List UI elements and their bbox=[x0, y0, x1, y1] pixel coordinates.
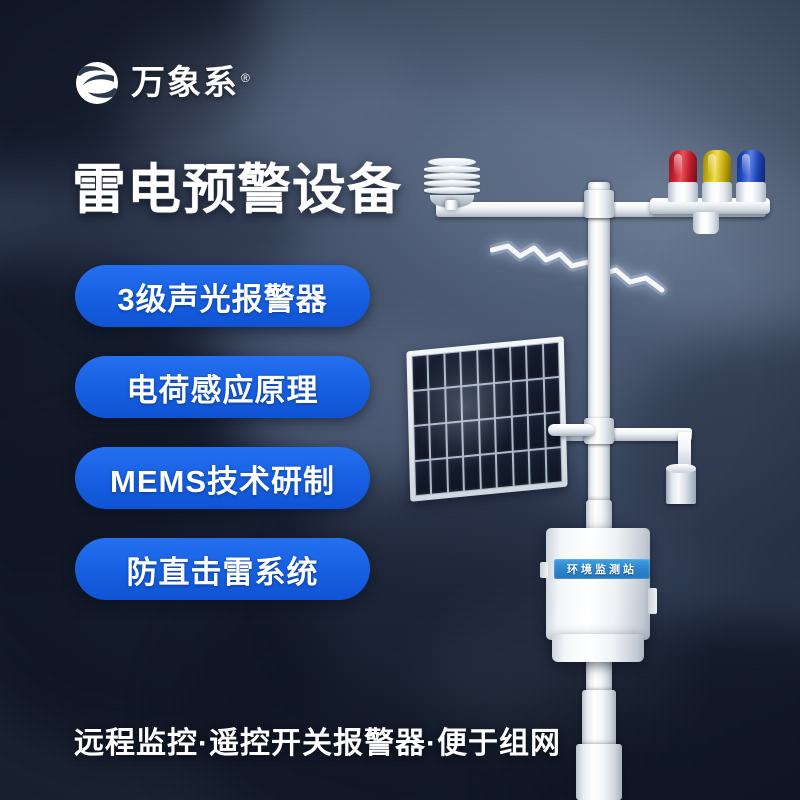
page-title: 雷电预警设备 bbox=[72, 163, 402, 217]
feature-pill-3-label: MEMS技术研制 bbox=[110, 456, 335, 501]
control-box-right-ear bbox=[648, 588, 657, 614]
brand-logo: 万象系® bbox=[74, 60, 252, 106]
control-box bbox=[546, 528, 650, 640]
trademark-symbol: ® bbox=[241, 71, 252, 85]
feature-pill-2-label: 电荷感应原理 bbox=[127, 365, 319, 410]
footer-tagline: 远程监控·遥控开关报警器·便于组网 bbox=[74, 718, 561, 762]
solar-panel-bracket bbox=[548, 424, 594, 436]
shield-stem bbox=[445, 200, 458, 210]
station-name-label: 环境监测站 bbox=[554, 559, 650, 579]
rain-gauge-top bbox=[666, 464, 696, 473]
rain-gauge-sensor bbox=[666, 468, 696, 504]
beacon-mount-neck bbox=[693, 212, 719, 234]
lightning-bolt-icon bbox=[490, 232, 670, 304]
mast-pole-upper bbox=[588, 182, 610, 512]
brand-name: 万象系® bbox=[131, 66, 252, 100]
control-box-lower-section bbox=[552, 634, 644, 662]
feature-pill-3[interactable]: MEMS技术研制 bbox=[75, 447, 370, 509]
upper-arm-collar bbox=[584, 190, 614, 218]
mast-pole-base bbox=[576, 744, 622, 800]
solar-cell-grid bbox=[412, 342, 563, 496]
feature-pill-4-label: 防直击雷系统 bbox=[127, 547, 319, 592]
control-box-left-ear bbox=[540, 562, 548, 578]
feature-pill-2[interactable]: 电荷感应原理 bbox=[75, 356, 370, 418]
feature-pill-1[interactable]: 3级声光报警器 bbox=[75, 265, 370, 327]
mast-pole-lower bbox=[582, 690, 616, 750]
solar-panel bbox=[406, 336, 567, 501]
station-name-text: 环境监测站 bbox=[567, 561, 637, 577]
feature-pill-1-label: 3级声光报警器 bbox=[117, 274, 327, 319]
promo-poster: 环境监测站 万象系® 雷电预警设备 3 bbox=[0, 0, 800, 800]
feature-pill-4[interactable]: 防直击雷系统 bbox=[75, 538, 370, 600]
brand-name-text: 万象系 bbox=[131, 64, 239, 102]
circle-swoosh-logo-icon bbox=[74, 60, 120, 106]
